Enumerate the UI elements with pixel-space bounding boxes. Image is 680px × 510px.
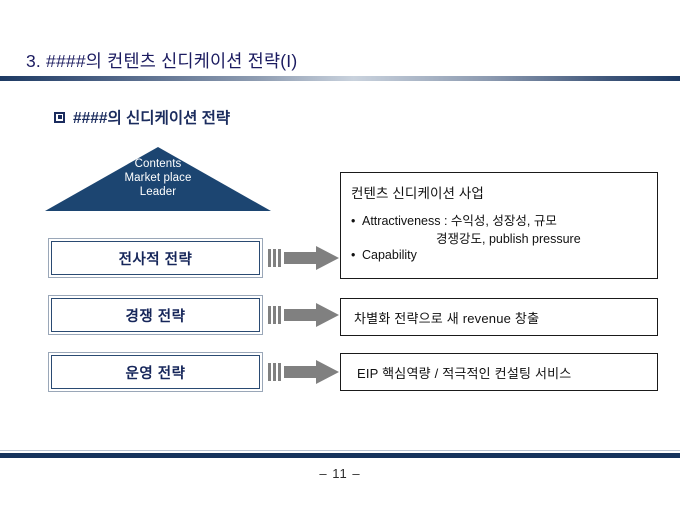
detail-panel-business: 컨텐츠 신디케이션 사업 • Attractiveness : 수익성, 성장성… (340, 172, 658, 279)
subtitle-label: ####의 신디케이션 전략 (73, 106, 230, 128)
panel-bullet-continuation: 경쟁강도, publish pressure (436, 231, 647, 247)
page-title: 3. ####의 컨텐츠 신디케이션 전략(I) (26, 48, 297, 73)
triangle-labels: Contents Market place Leader (45, 157, 271, 199)
panel-bullet-text: Capability (362, 247, 417, 263)
panel-bullet-text: Attractiveness : 수익성, 성장성, 규모 (362, 213, 557, 229)
strategy-box-label: 전사적 전략 (119, 248, 193, 269)
panel-text: 차별화 전략으로 새 revenue 창출 (354, 308, 539, 327)
triangle-line-2: Market place (45, 171, 271, 185)
page-number: – 11 – (0, 466, 680, 481)
arrow-right-icon (268, 302, 340, 328)
bullet-dot-icon: • (351, 213, 360, 229)
arrow-right-icon (268, 359, 340, 385)
strategy-box-label: 경쟁 전략 (126, 305, 186, 326)
detail-panel-eip: EIP 핵심역량 / 적극적인 컨설팅 서비스 (340, 353, 658, 391)
triangle-line-1: Contents (45, 157, 271, 171)
panel-bullet-attractiveness: • Attractiveness : 수익성, 성장성, 규모 (351, 213, 647, 229)
subtitle: ####의 신디케이션 전략 (54, 106, 230, 128)
panel-bullet-capability: • Capability (351, 247, 647, 263)
bullet-dot-icon: • (351, 247, 360, 263)
arrow-right-glyph (268, 245, 340, 271)
header-divider-rule (0, 76, 680, 81)
panel-text: EIP 핵심역량 / 적극적인 컨설팅 서비스 (357, 363, 571, 382)
vision-triangle: Contents Market place Leader (45, 147, 271, 211)
panel-heading: 컨텐츠 신디케이션 사업 (351, 182, 647, 202)
square-bullet-icon (54, 112, 65, 123)
strategy-box-label: 운영 전략 (126, 362, 186, 383)
strategy-box-operational[interactable]: 운영 전략 (48, 352, 263, 392)
detail-panel-differentiation: 차별화 전략으로 새 revenue 창출 (340, 298, 658, 336)
footer-hairline (0, 450, 680, 451)
strategy-box-enterprise[interactable]: 전사적 전략 (48, 238, 263, 278)
arrow-right-glyph (268, 302, 340, 328)
arrow-right-icon (268, 245, 340, 271)
strategy-box-competitive[interactable]: 경쟁 전략 (48, 295, 263, 335)
triangle-line-3: Leader (45, 185, 271, 199)
arrow-right-glyph (268, 359, 340, 385)
footer-divider-rule (0, 453, 680, 458)
